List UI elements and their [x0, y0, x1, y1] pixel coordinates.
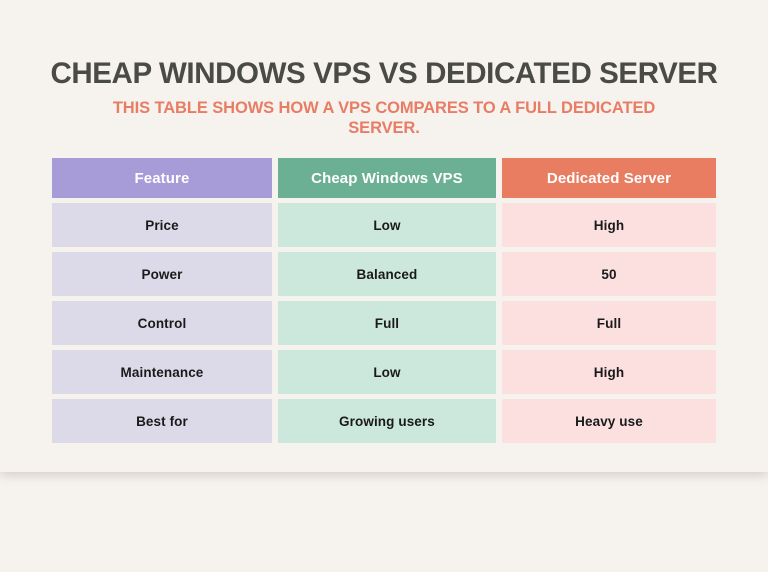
cell-feature-best-for: Best for [52, 399, 272, 443]
cell-vps-maintenance: Low [278, 350, 496, 394]
cell-vps-price: Low [278, 203, 496, 247]
page-title: CHEAP WINDOWS VPS VS DEDICATED SERVER [0, 58, 768, 90]
cell-feature-control: Control [52, 301, 272, 345]
cell-dedicated-best-for: Heavy use [502, 399, 716, 443]
table-row: Maintenance Low High [52, 350, 716, 394]
cell-feature-maintenance: Maintenance [52, 350, 272, 394]
table-row: Price Low High [52, 203, 716, 247]
cell-dedicated-maintenance: High [502, 350, 716, 394]
column-header-cheap-windows-vps: Cheap Windows VPS [278, 158, 496, 198]
table-row: Power Balanced 50 [52, 252, 716, 296]
cell-dedicated-power: 50 [502, 252, 716, 296]
table-row: Control Full Full [52, 301, 716, 345]
slide-canvas: CHEAP WINDOWS VPS VS DEDICATED SERVER TH… [0, 0, 768, 472]
slide-underlay [0, 472, 768, 572]
cell-feature-price: Price [52, 203, 272, 247]
cell-vps-best-for: Growing users [278, 399, 496, 443]
page-subtitle: THIS TABLE SHOWS HOW A VPS COMPARES TO A… [84, 98, 684, 139]
cell-vps-power: Balanced [278, 252, 496, 296]
comparison-table: Feature Cheap Windows VPS Dedicated Serv… [52, 158, 716, 443]
cell-vps-control: Full [278, 301, 496, 345]
cell-dedicated-price: High [502, 203, 716, 247]
table-header-row: Feature Cheap Windows VPS Dedicated Serv… [52, 158, 716, 198]
cell-feature-power: Power [52, 252, 272, 296]
column-header-feature: Feature [52, 158, 272, 198]
cell-dedicated-control: Full [502, 301, 716, 345]
table-row: Best for Growing users Heavy use [52, 399, 716, 443]
column-header-dedicated-server: Dedicated Server [502, 158, 716, 198]
